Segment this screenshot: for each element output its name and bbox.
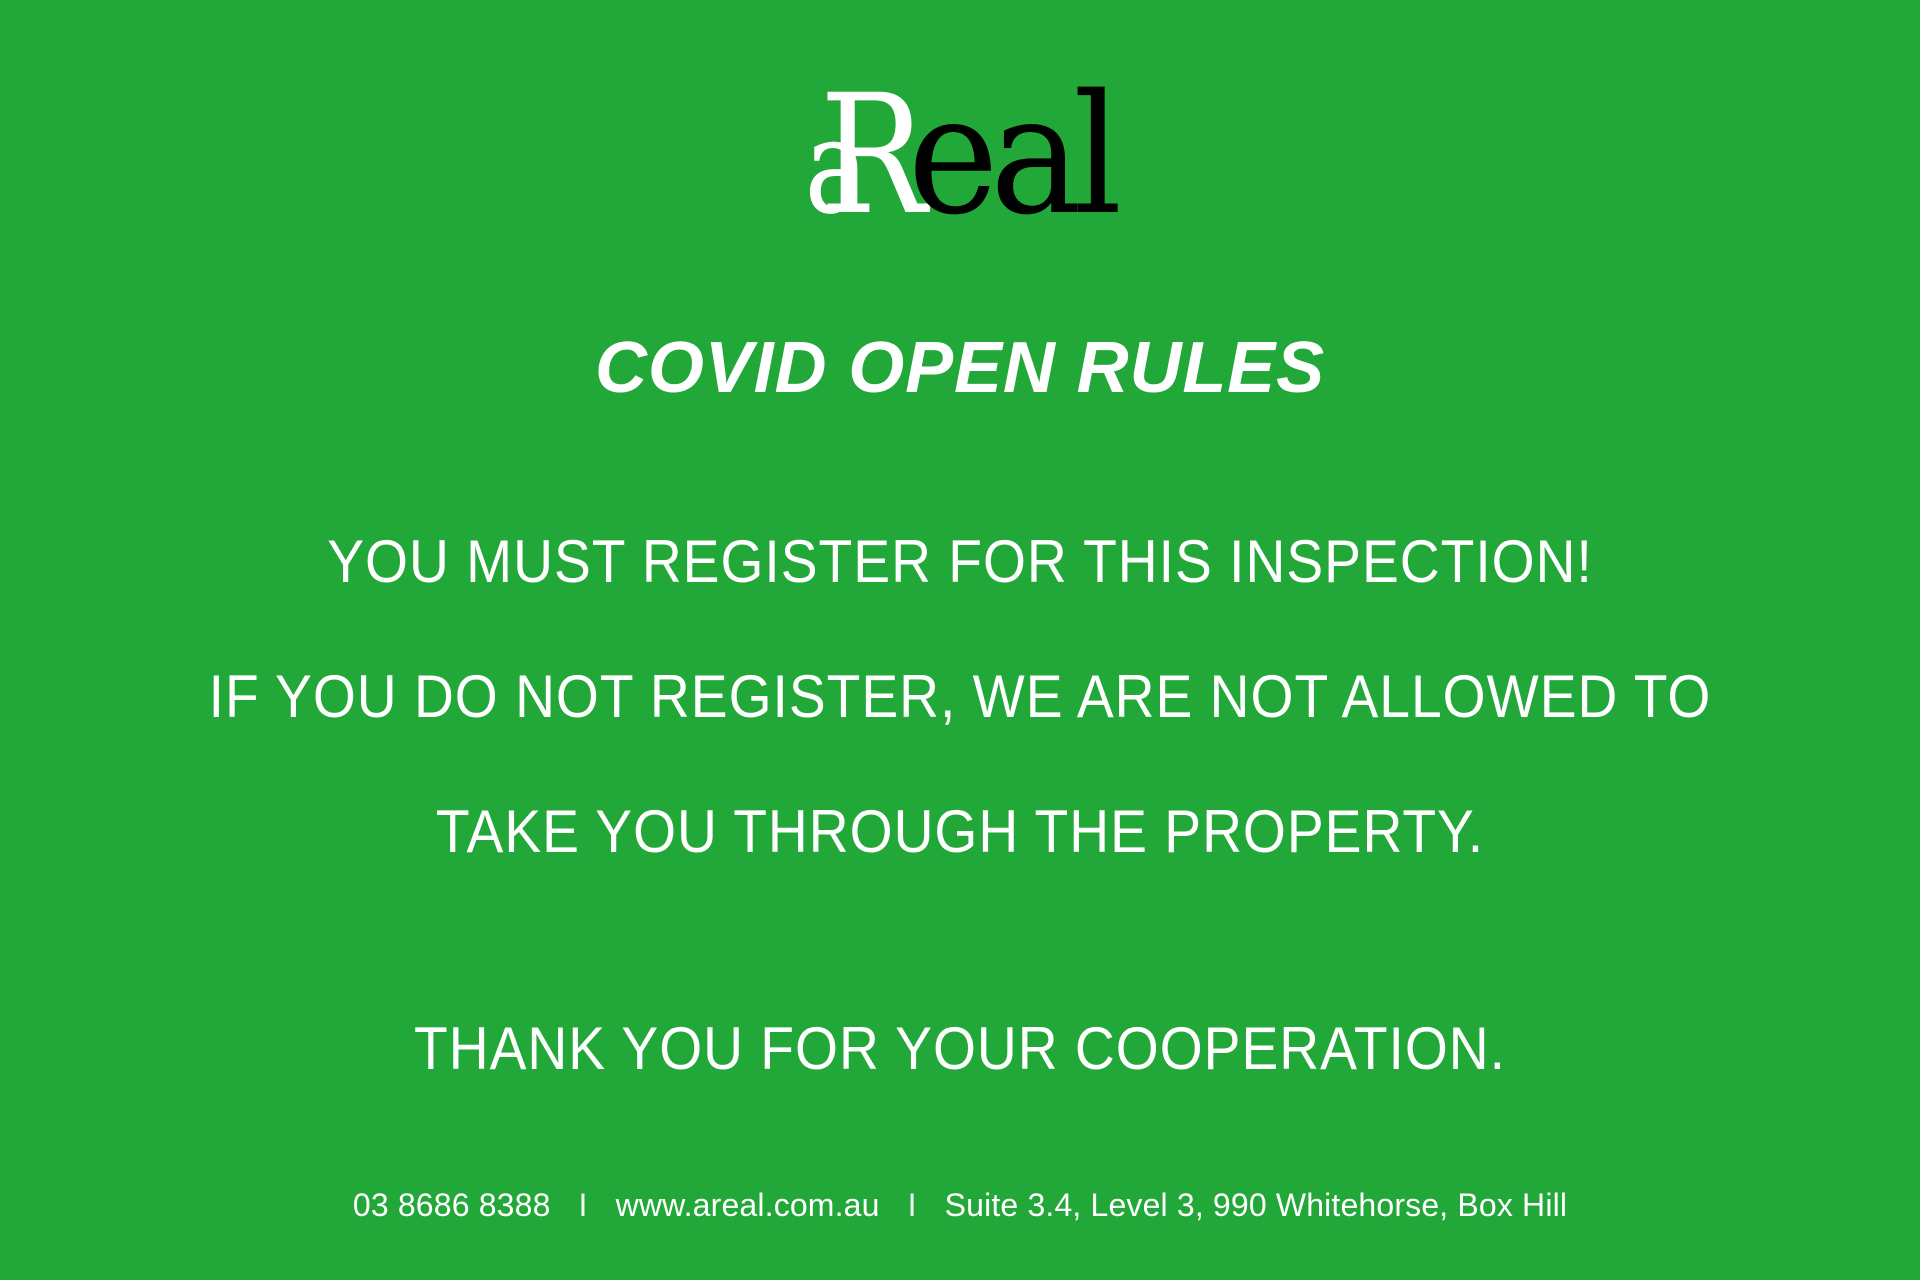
logo-letters-eal-icon: eal — [907, 73, 1113, 238]
page-title: COVID OPEN RULES — [0, 330, 1920, 406]
areal-wordmark-logo: aReal — [799, 73, 1122, 238]
footer-separator-1: I — [579, 1187, 588, 1224]
notice-line-2: IF YOU DO NOT REGISTER, WE ARE NOT ALLOW… — [77, 629, 1843, 764]
notice-body: YOU MUST REGISTER FOR THIS INSPECTION! I… — [0, 494, 1920, 1116]
footer-address: Suite 3.4, Level 3, 990 Whitehorse, Box … — [945, 1187, 1567, 1224]
logo-letter-r-icon: R — [820, 73, 914, 238]
contact-footer: 03 8686 8388 I www.areal.com.au I Suite … — [0, 1187, 1920, 1224]
covid-open-rules-poster: aReal COVID OPEN RULES YOU MUST REGISTER… — [0, 0, 1920, 1280]
notice-line-1: YOU MUST REGISTER FOR THIS INSPECTION! — [77, 494, 1843, 629]
footer-phone[interactable]: 03 8686 8388 — [353, 1187, 551, 1224]
footer-separator-2: I — [908, 1187, 917, 1224]
footer-website[interactable]: www.areal.com.au — [616, 1187, 880, 1224]
brand-logo: aReal — [0, 78, 1920, 238]
notice-line-3: TAKE YOU THROUGH THE PROPERTY. — [77, 764, 1843, 899]
notice-line-5: THANK YOU FOR YOUR COOPERATION. — [77, 981, 1843, 1116]
